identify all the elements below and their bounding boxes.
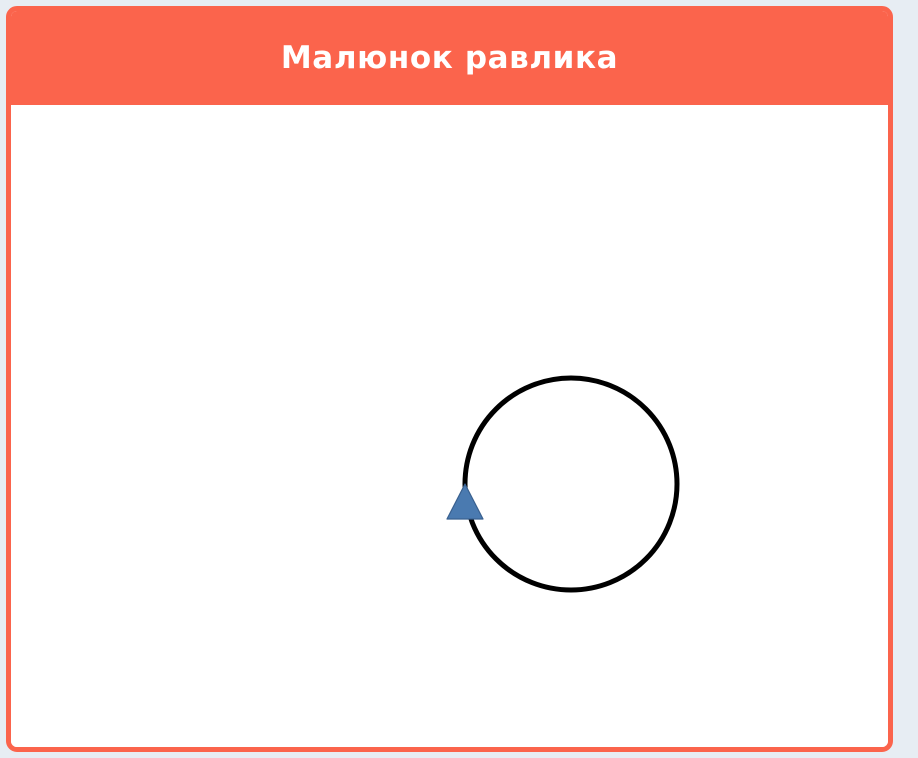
window-titlebar: Малюнок равлика: [11, 11, 888, 105]
app-root: Малюнок равлика: [0, 0, 918, 758]
turtle-cursor-icon: [447, 484, 483, 519]
drawn-circle-shape: [465, 378, 677, 590]
page-title: Малюнок равлика: [281, 43, 618, 74]
drawing-window-card: Малюнок равлика: [6, 6, 893, 752]
turtle-drawing-canvas[interactable]: [11, 105, 888, 747]
drawing-surface: [11, 105, 888, 747]
